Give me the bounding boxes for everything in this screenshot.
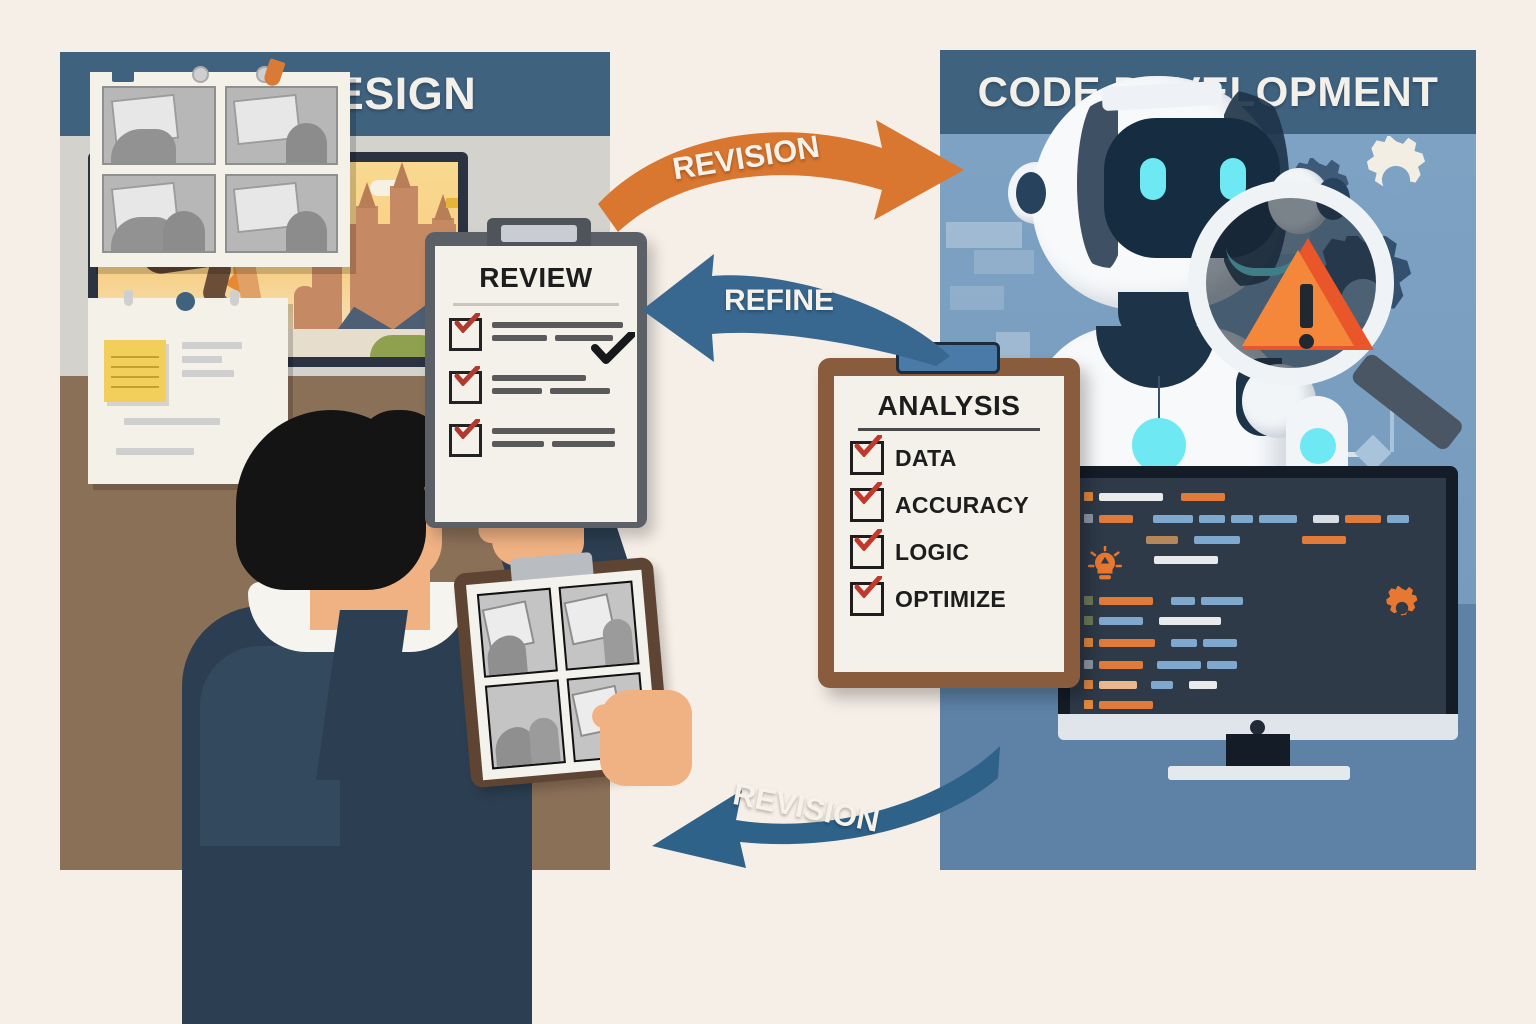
warning-triangle-inner — [1242, 250, 1354, 346]
storyboard-panel — [559, 581, 640, 671]
storyboard-panel — [485, 679, 566, 769]
magnifier-lens — [1188, 180, 1394, 386]
arrow-revision-top-shape — [596, 108, 966, 236]
robot-arm-light — [1300, 428, 1336, 464]
clipboard-clip-inner — [501, 225, 577, 242]
lightbulb-icon — [1088, 546, 1122, 586]
robot-eye-left — [1140, 158, 1166, 200]
analysis-item-label: LOGIC — [895, 539, 969, 566]
orange-gear-icon — [1380, 586, 1424, 630]
robot-head-plate — [1101, 81, 1222, 111]
warning-exclamation-dot — [1299, 334, 1314, 349]
robot-ear-inner-left — [1016, 172, 1046, 214]
storyboard-panel — [102, 174, 216, 253]
storyboard-sheet — [90, 72, 350, 267]
checkbox-checked[interactable] — [850, 535, 884, 569]
blue-pin-icon — [112, 64, 134, 82]
analysis-item: ACCURACY — [850, 488, 1048, 522]
blue-dot-pin-icon — [176, 292, 195, 311]
review-item — [449, 424, 623, 457]
monitor-stand-neck — [1226, 734, 1290, 768]
analysis-item: LOGIC — [850, 535, 1048, 569]
note-line — [182, 356, 222, 363]
note-line — [182, 370, 234, 377]
castle-spire — [393, 162, 411, 188]
castle-spire — [358, 182, 376, 208]
code-editor-screen — [1070, 478, 1446, 714]
castle-tower — [294, 286, 316, 332]
warning-exclamation-bar — [1300, 284, 1313, 328]
sticky-note — [104, 340, 166, 402]
review-clipboard: REVIEW — [425, 232, 647, 528]
checkbox-checked[interactable] — [850, 488, 884, 522]
checkbox-checked[interactable] — [850, 441, 884, 475]
castle-flag — [446, 198, 458, 208]
robot-core-line — [1158, 376, 1160, 420]
storyboard-panel — [477, 588, 558, 678]
monitor-camera-dot — [1250, 720, 1265, 735]
ghost-block — [950, 286, 1004, 310]
code-editor-monitor — [1058, 466, 1458, 796]
analysis-divider — [858, 428, 1040, 431]
analysis-item-label: DATA — [895, 445, 957, 472]
magnifier-with-warning — [1188, 180, 1410, 402]
approval-check-icon — [591, 332, 635, 364]
storyboard-panel — [225, 86, 339, 165]
checkbox-checked[interactable] — [850, 582, 884, 616]
note-line — [182, 342, 242, 349]
monitor-stand-base — [1168, 766, 1350, 780]
analysis-item-label: ACCURACY — [895, 492, 1029, 519]
checkbox-checked[interactable] — [449, 371, 482, 404]
review-item — [449, 371, 623, 404]
analysis-page: ANALYSIS DATA ACCURACY LOGIC — [834, 376, 1064, 672]
analysis-item: DATA — [850, 441, 1048, 475]
analysis-clipboard: ANALYSIS DATA ACCURACY LOGIC — [818, 358, 1080, 688]
storyboard-panel — [102, 86, 216, 165]
monitor-frame — [1058, 466, 1458, 734]
clip-pin-icon — [192, 66, 209, 83]
arrow-revision-top: REVISION — [596, 108, 966, 236]
person-jacket-highlight — [200, 646, 340, 846]
diagram-canvas: ART DESIGN — [0, 0, 1536, 1024]
clip-pin-icon — [230, 290, 239, 306]
storyboard-panel — [225, 174, 339, 253]
castle-tower — [356, 206, 378, 262]
checkbox-checked[interactable] — [449, 318, 482, 351]
review-divider — [453, 303, 619, 306]
arrow-refine-label: REFINE — [724, 284, 834, 318]
clip-pin-icon — [124, 290, 133, 306]
analysis-item: OPTIMIZE — [850, 582, 1048, 616]
checkbox-checked[interactable] — [449, 424, 482, 457]
review-title: REVIEW — [449, 262, 623, 294]
arrow-revision-bottom: REVISION — [650, 738, 1002, 870]
review-page: REVIEW — [435, 246, 637, 522]
analysis-item-label: OPTIMIZE — [895, 586, 1006, 613]
arrow-refine: REFINE — [640, 248, 952, 368]
castle-tower — [390, 186, 418, 258]
robot-core-light — [1132, 418, 1186, 472]
analysis-title: ANALYSIS — [850, 390, 1048, 422]
